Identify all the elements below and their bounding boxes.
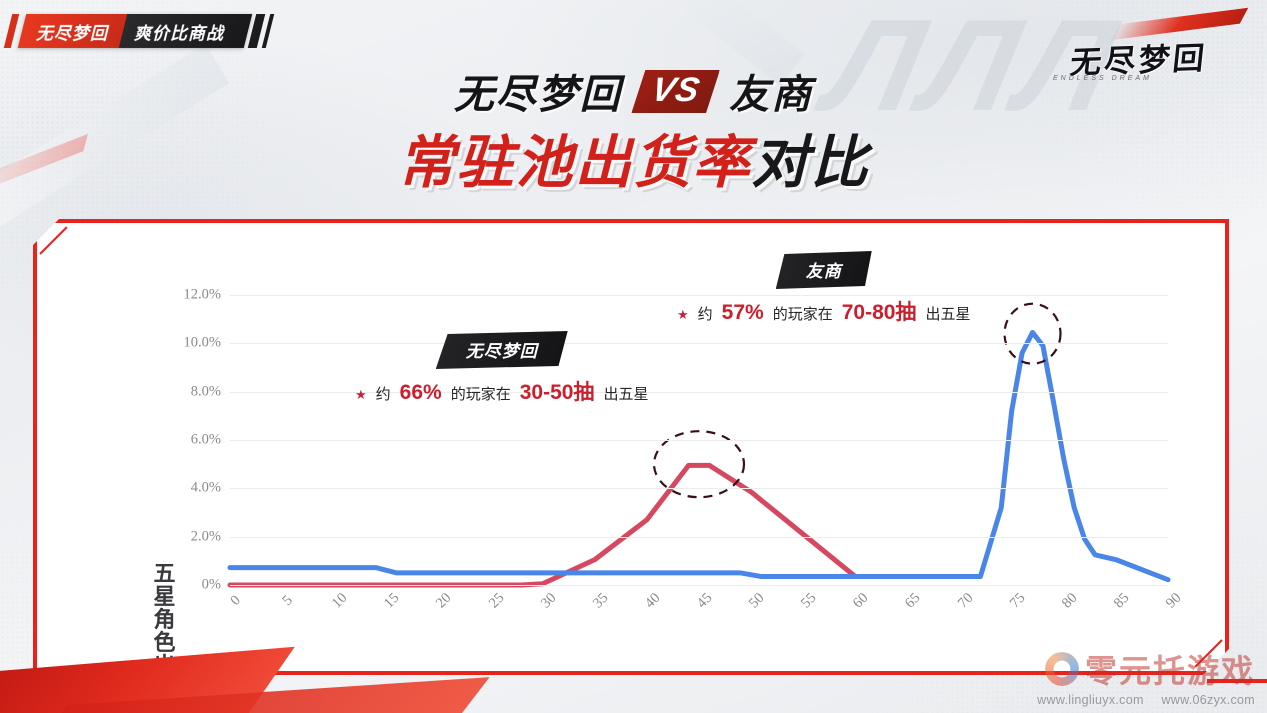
y-axis-title: 五星角色出货率: [145, 563, 185, 713]
callout-tag-label: 无尽梦回: [436, 331, 568, 369]
callout-highlight-percent: 66%: [400, 381, 442, 405]
callout-suffix: 出五星: [925, 303, 970, 324]
panel-corner-accent-bottomright: [1194, 639, 1222, 667]
header-badge: 无尽梦回 爽价比商战: [18, 14, 252, 48]
title-product-name: 无尽梦回: [454, 62, 622, 120]
y-axis-tick-label: 6.0%: [191, 432, 221, 449]
callout-prefix: 约: [698, 303, 713, 324]
title-vs-badge: VS: [631, 70, 719, 113]
y-axis-title-char: 五: [145, 563, 185, 586]
x-axis-tick-label: 85: [1111, 590, 1133, 612]
watermark-url-2: www.06zyx.com: [1161, 693, 1255, 707]
x-axis-tick-label: 40: [642, 590, 664, 612]
grid-line: [230, 488, 1168, 489]
x-axis-tick-label: 70: [954, 590, 976, 612]
panel-corner-accent-topleft: [39, 226, 67, 254]
callout-highlight-range: 30-50抽: [520, 376, 595, 406]
x-axis-tick-label: 30: [538, 590, 560, 612]
callout-suffix: 出五星: [603, 383, 648, 404]
y-axis-title-char: 星: [145, 586, 185, 609]
x-axis-tick-label: 10: [329, 590, 351, 612]
x-axis-tick-label: 60: [850, 590, 872, 612]
y-axis-tick-label: 2.0%: [191, 528, 221, 545]
watermark-urls: www.lingliuyx.com www.06zyx.com: [1023, 693, 1255, 707]
y-axis-title-char: 色: [145, 632, 185, 655]
y-axis-tick-label: 4.0%: [191, 480, 221, 497]
y-axis-title-char: 货: [145, 677, 185, 700]
callout-prefix: 约: [376, 383, 391, 404]
callout-tag-label: 友商: [776, 251, 872, 289]
x-axis-tick-label: 80: [1059, 590, 1081, 612]
y-axis-tick-label: 8.0%: [191, 383, 221, 400]
y-axis-title-char: 角: [145, 609, 185, 632]
grid-line: [230, 585, 1168, 586]
infographic-page: ЛЛЛ 无尽梦回 爽价比商战 无尽梦回 ENDLESS DREAM 无尽梦回 V…: [0, 0, 1267, 713]
callout-highlight-percent: 57%: [722, 301, 764, 325]
x-axis-tick-label: 20: [433, 590, 455, 612]
badge-secondary-label: 爽价比商战: [119, 14, 252, 48]
star-icon: ★: [677, 307, 689, 323]
badge-accent-slash-left: [4, 14, 19, 48]
star-icon: ★: [355, 387, 367, 403]
y-axis-tick-label: 0%: [202, 577, 221, 594]
watermark-url-1: www.lingliuyx.com: [1037, 693, 1144, 707]
x-axis-tick-label: 90: [1163, 590, 1185, 612]
callout-middle: 的玩家在: [773, 303, 833, 324]
y-axis-title-char: 率: [145, 700, 185, 713]
grid-line: [230, 537, 1168, 538]
y-axis-title-char: 出: [145, 655, 185, 678]
title-line-2: 常驻池出货率对比: [0, 117, 1267, 199]
callout-middle: 的玩家在: [451, 383, 511, 404]
x-axis-tick-label: 15: [381, 590, 403, 612]
logo-streak-icon: [1110, 8, 1249, 41]
title-subject-red: 常驻池出货率: [398, 131, 752, 195]
x-axis-tick-label: 0: [227, 592, 244, 609]
decor-red-wedge-2: [30, 677, 489, 713]
title-line-1: 无尽梦回 VS 友商: [0, 62, 1267, 120]
callout-text: ★ 约57%的玩家在70-80抽出五星: [677, 296, 970, 326]
callout-competitor: 友商 ★ 约57%的玩家在70-80抽出五星: [677, 251, 970, 326]
callout-text: ★ 约66%的玩家在30-50抽出五星: [355, 376, 648, 406]
x-axis-tick-label: 5: [280, 592, 297, 609]
badge-primary-label: 无尽梦回: [18, 14, 127, 48]
x-axis-tick-label: 35: [590, 590, 612, 612]
x-axis-tick-label: 55: [798, 590, 820, 612]
grid-line: [230, 440, 1168, 441]
title-competitor-name: 友商: [729, 62, 813, 120]
chart-panel: 五星角色出货率 0%2.0%4.0%6.0%8.0%10.0%12.0%0510…: [33, 219, 1229, 675]
x-axis-tick-label: 75: [1007, 590, 1029, 612]
x-axis-tick-label: 50: [746, 590, 768, 612]
decor-red-line-right: [1207, 679, 1267, 683]
title-subject-black: 对比: [752, 131, 870, 195]
x-axis-tick-label: 45: [694, 590, 716, 612]
callout-highlight-range: 70-80抽: [842, 296, 917, 326]
x-axis-tick-label: 65: [902, 590, 924, 612]
callout-endless-dream: 无尽梦回 ★ 约66%的玩家在30-50抽出五星: [355, 331, 648, 406]
y-axis-tick-label: 10.0%: [184, 335, 221, 352]
y-axis-tick-label: 12.0%: [184, 287, 221, 304]
x-axis-tick-label: 25: [485, 590, 507, 612]
